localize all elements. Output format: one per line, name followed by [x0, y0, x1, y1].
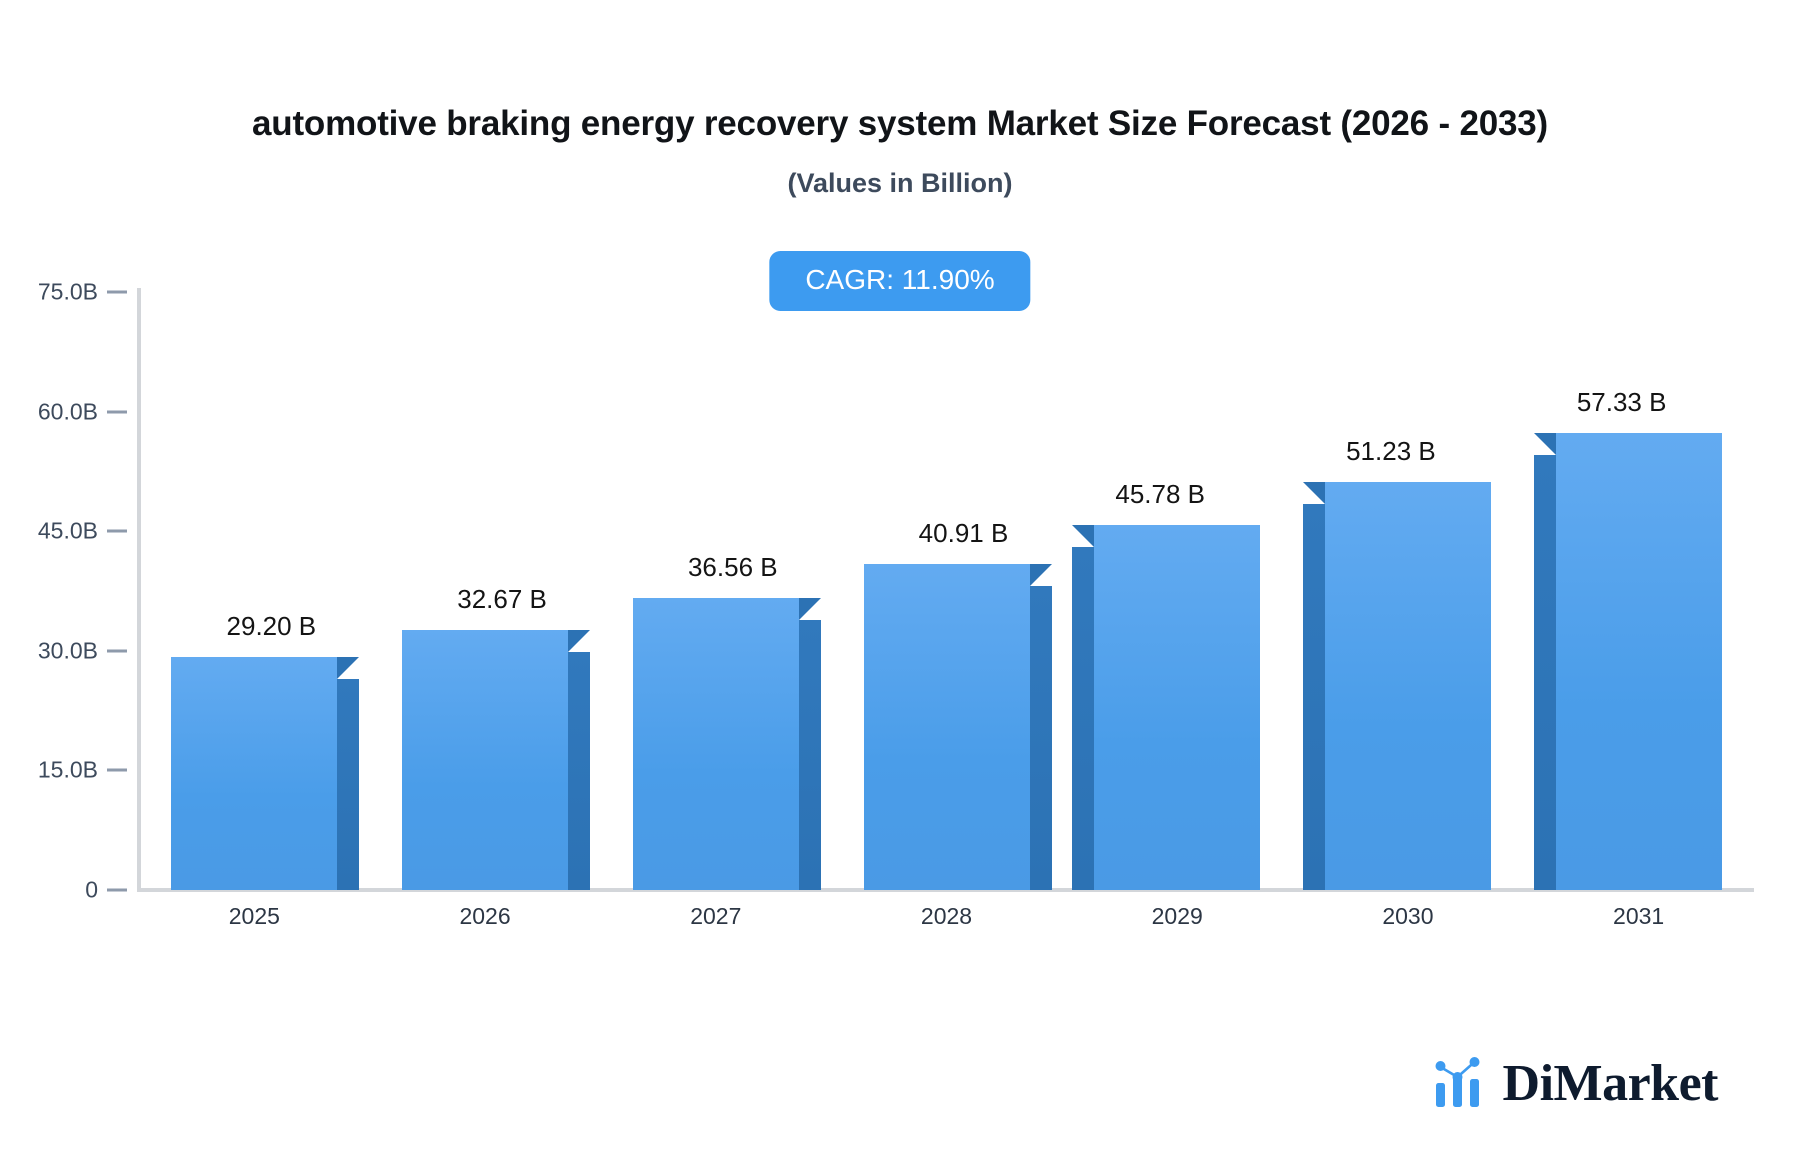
x-tick-label: 2025 — [229, 903, 280, 930]
bar-side-face — [568, 652, 590, 890]
bar-value-label: 29.20 B — [227, 611, 317, 642]
bar-face — [402, 630, 568, 890]
bar-side-face — [337, 679, 359, 890]
bar-top-bevel — [1030, 564, 1052, 586]
y-tick-mark — [107, 769, 127, 772]
y-tick-mark — [107, 530, 127, 533]
bar-top-bevel — [568, 630, 590, 652]
bar — [1325, 482, 1491, 890]
bar-value-label: 36.56 B — [688, 552, 778, 583]
y-tick-mark — [107, 291, 127, 294]
x-tick-label: 2029 — [1152, 903, 1203, 930]
bar-value-label: 40.91 B — [919, 518, 1009, 549]
x-tick-label: 2030 — [1382, 903, 1433, 930]
y-tick-label: 60.0B — [38, 398, 98, 425]
bar-side-face — [1072, 547, 1094, 890]
bar — [1094, 525, 1260, 890]
bar-side-face — [1534, 455, 1556, 890]
bar-value-label: 32.67 B — [457, 584, 547, 615]
bar-top-bevel — [337, 657, 359, 679]
bar-face — [171, 657, 337, 890]
x-tick-label: 2026 — [459, 903, 510, 930]
bar-top-bevel — [799, 598, 821, 620]
bar-face — [1325, 482, 1491, 890]
bar-value-label: 51.23 B — [1346, 436, 1436, 467]
x-tick-label: 2031 — [1613, 903, 1664, 930]
bar-face — [633, 598, 799, 890]
y-tick-label: 75.0B — [38, 279, 98, 306]
y-tick-label: 0 — [85, 877, 98, 904]
bar — [402, 630, 568, 890]
x-tick-label: 2028 — [921, 903, 972, 930]
y-tick-label: 30.0B — [38, 637, 98, 664]
bar-top-bevel — [1534, 433, 1556, 455]
bar-value-label: 57.33 B — [1577, 387, 1667, 418]
y-tick-mark — [107, 410, 127, 413]
y-tick-mark — [107, 649, 127, 652]
bar-side-face — [1303, 504, 1325, 890]
bar — [1556, 433, 1722, 890]
plot-area: 015.0B30.0B45.0B60.0B75.0B 2025202620272… — [0, 0, 1800, 1156]
bar-chart-icon — [1433, 1053, 1489, 1114]
bar-face — [864, 564, 1030, 890]
chart-canvas: automotive braking energy recovery syste… — [0, 0, 1800, 1156]
y-tick-label: 45.0B — [38, 518, 98, 545]
bar-value-label: 45.78 B — [1115, 479, 1205, 510]
bar-face — [1094, 525, 1260, 890]
logo-wordmark: DiMarket — [1503, 1058, 1718, 1110]
bar-top-bevel — [1072, 525, 1094, 547]
y-tick-mark — [107, 889, 127, 892]
bar — [171, 657, 337, 890]
dimarket-logo: DiMarket — [1433, 1053, 1718, 1114]
bar-top-bevel — [1303, 482, 1325, 504]
x-tick-label: 2027 — [690, 903, 741, 930]
bar-side-face — [1030, 586, 1052, 890]
bar — [633, 598, 799, 890]
bar-side-face — [799, 620, 821, 890]
bar — [864, 564, 1030, 890]
bar-face — [1556, 433, 1722, 890]
y-tick-label: 15.0B — [38, 757, 98, 784]
y-axis-line — [137, 288, 141, 892]
